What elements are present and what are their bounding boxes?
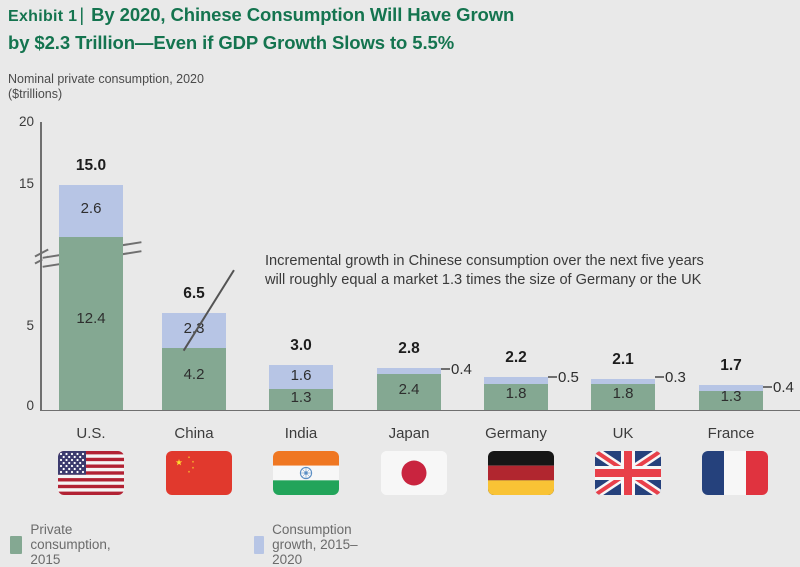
leader-line-germany: [548, 376, 557, 377]
exhibit-chart: Exhibit 1| By 2020, Chinese Consumption …: [0, 0, 800, 553]
x-label-china: China: [154, 425, 234, 442]
annotation-line-1: Incremental growth in Chinese consumptio…: [265, 252, 795, 271]
legend-label-blue: Consumption growth, 2015–2020: [272, 522, 363, 567]
flag-fr-icon: [702, 451, 768, 495]
bar-germany[interactable]: 1.8 2.2 0.5: [484, 377, 548, 410]
bar-india-consumption-value: 1.3: [269, 389, 333, 406]
bar-uk[interactable]: 1.8 2.1 0.3: [591, 379, 655, 410]
y-tick-20: 20: [0, 114, 34, 129]
bar-china-consumption-value: 4.2: [162, 366, 226, 383]
legend-item-consumption-growth[interactable]: Consumption growth, 2015–2020: [254, 522, 364, 567]
legend-label-green: Private consumption, 2015: [30, 522, 120, 567]
legend-item-private-consumption[interactable]: Private consumption, 2015: [10, 522, 120, 567]
bar-france-consumption-value: 1.3: [699, 388, 763, 405]
leader-line-france: [763, 386, 772, 387]
bar-japan-consumption-value: 2.4: [377, 381, 441, 398]
bar-france-total-value: 1.7: [699, 357, 763, 375]
flag-in-icon: [273, 451, 339, 495]
leader-line-uk: [655, 376, 664, 377]
x-label-germany: Germany: [476, 425, 556, 442]
x-label-japan: Japan: [369, 425, 449, 442]
bar-japan-total-value: 2.8: [377, 340, 441, 358]
x-label-france: France: [691, 425, 771, 442]
legend-swatch-green: [10, 536, 22, 554]
annotation-line-2: will roughly equal a market 1.3 times th…: [265, 271, 795, 290]
flag-gb-icon: [595, 451, 661, 495]
bar-germany-consumption-value: 1.8: [484, 385, 548, 402]
bar-us-consumption-value: 12.4: [59, 310, 123, 327]
bar-us-growth-value: 2.6: [59, 200, 123, 217]
bar-japan-growth-callout: 0.4: [441, 361, 472, 378]
bar-uk-growth-callout: 0.3: [655, 369, 686, 386]
y-tick-15: 15: [0, 176, 34, 191]
bar-uk-consumption-value: 1.8: [591, 385, 655, 402]
flag-cn-icon: [166, 451, 232, 495]
bar-france[interactable]: 1.3 1.7 0.4: [699, 385, 763, 410]
legend-swatch-blue: [254, 536, 264, 554]
flag-de-icon: [488, 451, 554, 495]
bar-germany-growth-segment: [484, 377, 548, 384]
bar-germany-total-value: 2.2: [484, 349, 548, 367]
bar-germany-growth-callout: 0.5: [548, 369, 579, 386]
bar-india[interactable]: 1.6 1.3 3.0: [269, 365, 333, 410]
leader-line-japan: [441, 368, 450, 369]
bar-china[interactable]: 2.3 4.2 6.5: [162, 313, 226, 410]
x-label-india: India: [261, 425, 341, 442]
x-label-uk: UK: [583, 425, 663, 442]
bar-japan[interactable]: 2.4 2.8 0.4: [377, 368, 441, 410]
y-tick-5: 5: [0, 318, 34, 333]
bar-us[interactable]: 2.6 12.4 15.0: [59, 185, 123, 410]
y-tick-0: 0: [0, 398, 34, 413]
bar-us-total-value: 15.0: [59, 157, 123, 175]
bar-uk-total-value: 2.1: [591, 351, 655, 369]
bar-india-total-value: 3.0: [269, 337, 333, 355]
annotation-text: Incremental growth in Chinese consumptio…: [265, 252, 795, 290]
plot-area: 20 15 5 0 2.6 12.4 15.0 2.3 4.2 6.5: [0, 0, 800, 553]
flag-jp-icon: [381, 451, 447, 495]
bar-france-growth-callout: 0.4: [763, 379, 794, 396]
bar-india-growth-value: 1.6: [269, 367, 333, 384]
flag-us-icon: [58, 451, 124, 495]
x-label-us: U.S.: [51, 425, 131, 442]
